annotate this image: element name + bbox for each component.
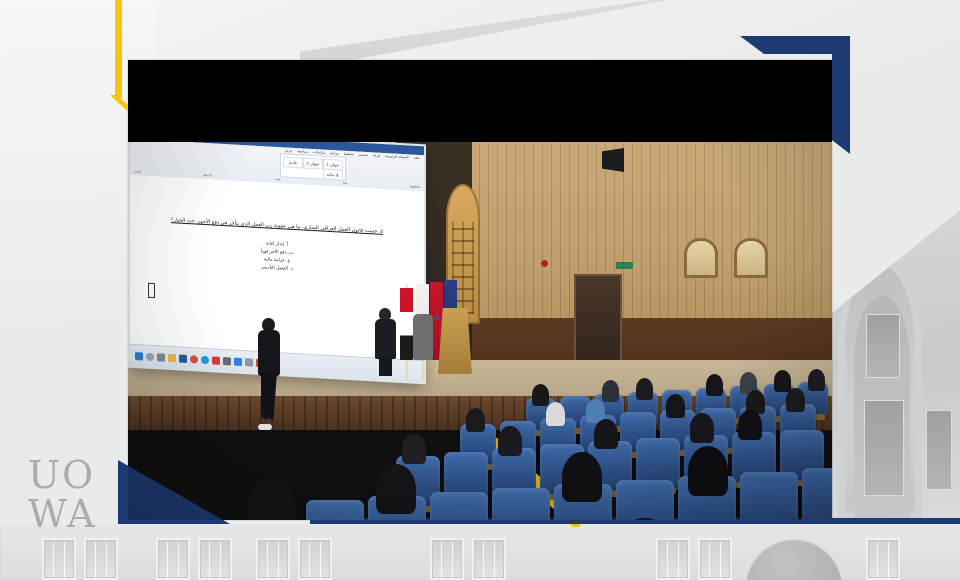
audience-member — [248, 478, 294, 520]
ribbon-tab[interactable]: إدراج — [373, 153, 380, 157]
building-window — [866, 538, 900, 580]
building-window — [298, 538, 332, 580]
campus-building-strip — [0, 524, 960, 580]
wall-artwork — [734, 238, 768, 278]
audience-seating — [128, 360, 832, 520]
ribbon-tab[interactable]: الصفحة الرئيسية — [385, 154, 408, 159]
text-cursor-icon — [148, 283, 154, 298]
fire-alarm-icon — [541, 260, 548, 267]
start-icon[interactable] — [135, 352, 143, 360]
accent-yellow-vertical-bar — [115, 0, 122, 98]
audience-member — [498, 426, 522, 456]
wall-artwork — [684, 238, 718, 278]
ribbon-group-label: الحافظة — [410, 184, 420, 189]
style-item[interactable]: عنوان 2 — [303, 157, 323, 169]
building-window — [84, 538, 118, 580]
arch-window-upper — [866, 314, 900, 378]
audience-member — [376, 464, 416, 514]
logo-line-2: WA — [28, 497, 97, 532]
style-item[interactable]: عادي — [283, 156, 303, 168]
ribbon-group-label: تحرير — [134, 169, 141, 173]
event-photograph: ملف الصفحة الرئيسية إدراج تصميم تخطيط مر… — [128, 60, 832, 520]
arch-window-lower — [864, 400, 904, 496]
stage-chair — [413, 314, 433, 360]
audience-member — [636, 378, 653, 400]
ribbon-tab[interactable]: عرض — [284, 148, 292, 152]
flag-cloth — [400, 288, 413, 360]
audience-member — [532, 384, 549, 406]
ribbon-tab[interactable]: تصميم — [359, 153, 368, 158]
seat — [430, 492, 488, 520]
flag-iraq — [400, 288, 413, 360]
ribbon-group-label: الأنماط — [203, 173, 212, 177]
audience-member — [546, 402, 565, 426]
seat — [492, 488, 550, 520]
uowa-logo: UO WA — [28, 458, 97, 532]
building-window — [656, 538, 690, 580]
building-window — [698, 538, 732, 580]
ribbon-tab[interactable]: ملف — [414, 156, 420, 160]
audience-member — [774, 370, 791, 392]
logo-line-1: UO — [28, 458, 97, 493]
audience-member — [666, 394, 685, 418]
audience-member — [688, 446, 728, 496]
audience-member — [808, 369, 825, 391]
arch-window-side — [926, 410, 952, 490]
audience-member — [562, 452, 602, 502]
ribbon-group-label: خط — [343, 181, 348, 185]
presenter-body — [375, 319, 396, 359]
document-answer-options: أ. إنذار كتابة ب. دفع الأجر فوراً ج. غرا… — [144, 233, 410, 280]
audience-member — [402, 434, 426, 464]
audience-member — [786, 388, 805, 412]
seat — [740, 472, 798, 520]
ribbon-tab[interactable]: مراجعة — [297, 149, 307, 154]
seat — [616, 480, 674, 520]
building-window — [42, 538, 76, 580]
audience-member — [706, 374, 723, 396]
exit-sign — [616, 262, 633, 269]
building-window — [156, 538, 190, 580]
building-window — [472, 538, 506, 580]
style-gallery[interactable]: عنوان 1 عنوان 2 عادي بلا تباعد — [280, 153, 346, 181]
building-window — [198, 538, 232, 580]
wall-speaker-icon — [602, 148, 624, 172]
flag-emblem — [433, 314, 440, 321]
building-window — [430, 538, 464, 580]
slide-canvas: ملف الصفحة الرئيسية إدراج تصميم تخطيط مر… — [0, 0, 960, 580]
audience-member — [690, 413, 714, 443]
seat — [306, 500, 364, 520]
audience-member — [738, 410, 762, 440]
ribbon-tab[interactable]: مراسلات — [313, 150, 326, 155]
seat — [802, 468, 832, 520]
audience-member — [602, 380, 619, 402]
audience-member — [466, 408, 485, 432]
photo-letterbox-band — [128, 60, 832, 142]
building-window — [256, 538, 290, 580]
ribbon-group-label: فقرة — [274, 177, 280, 181]
audience-member — [594, 419, 618, 449]
ribbon-tab[interactable]: مراجع — [330, 151, 339, 155]
ribbon-tab[interactable]: تخطيط — [344, 152, 354, 157]
